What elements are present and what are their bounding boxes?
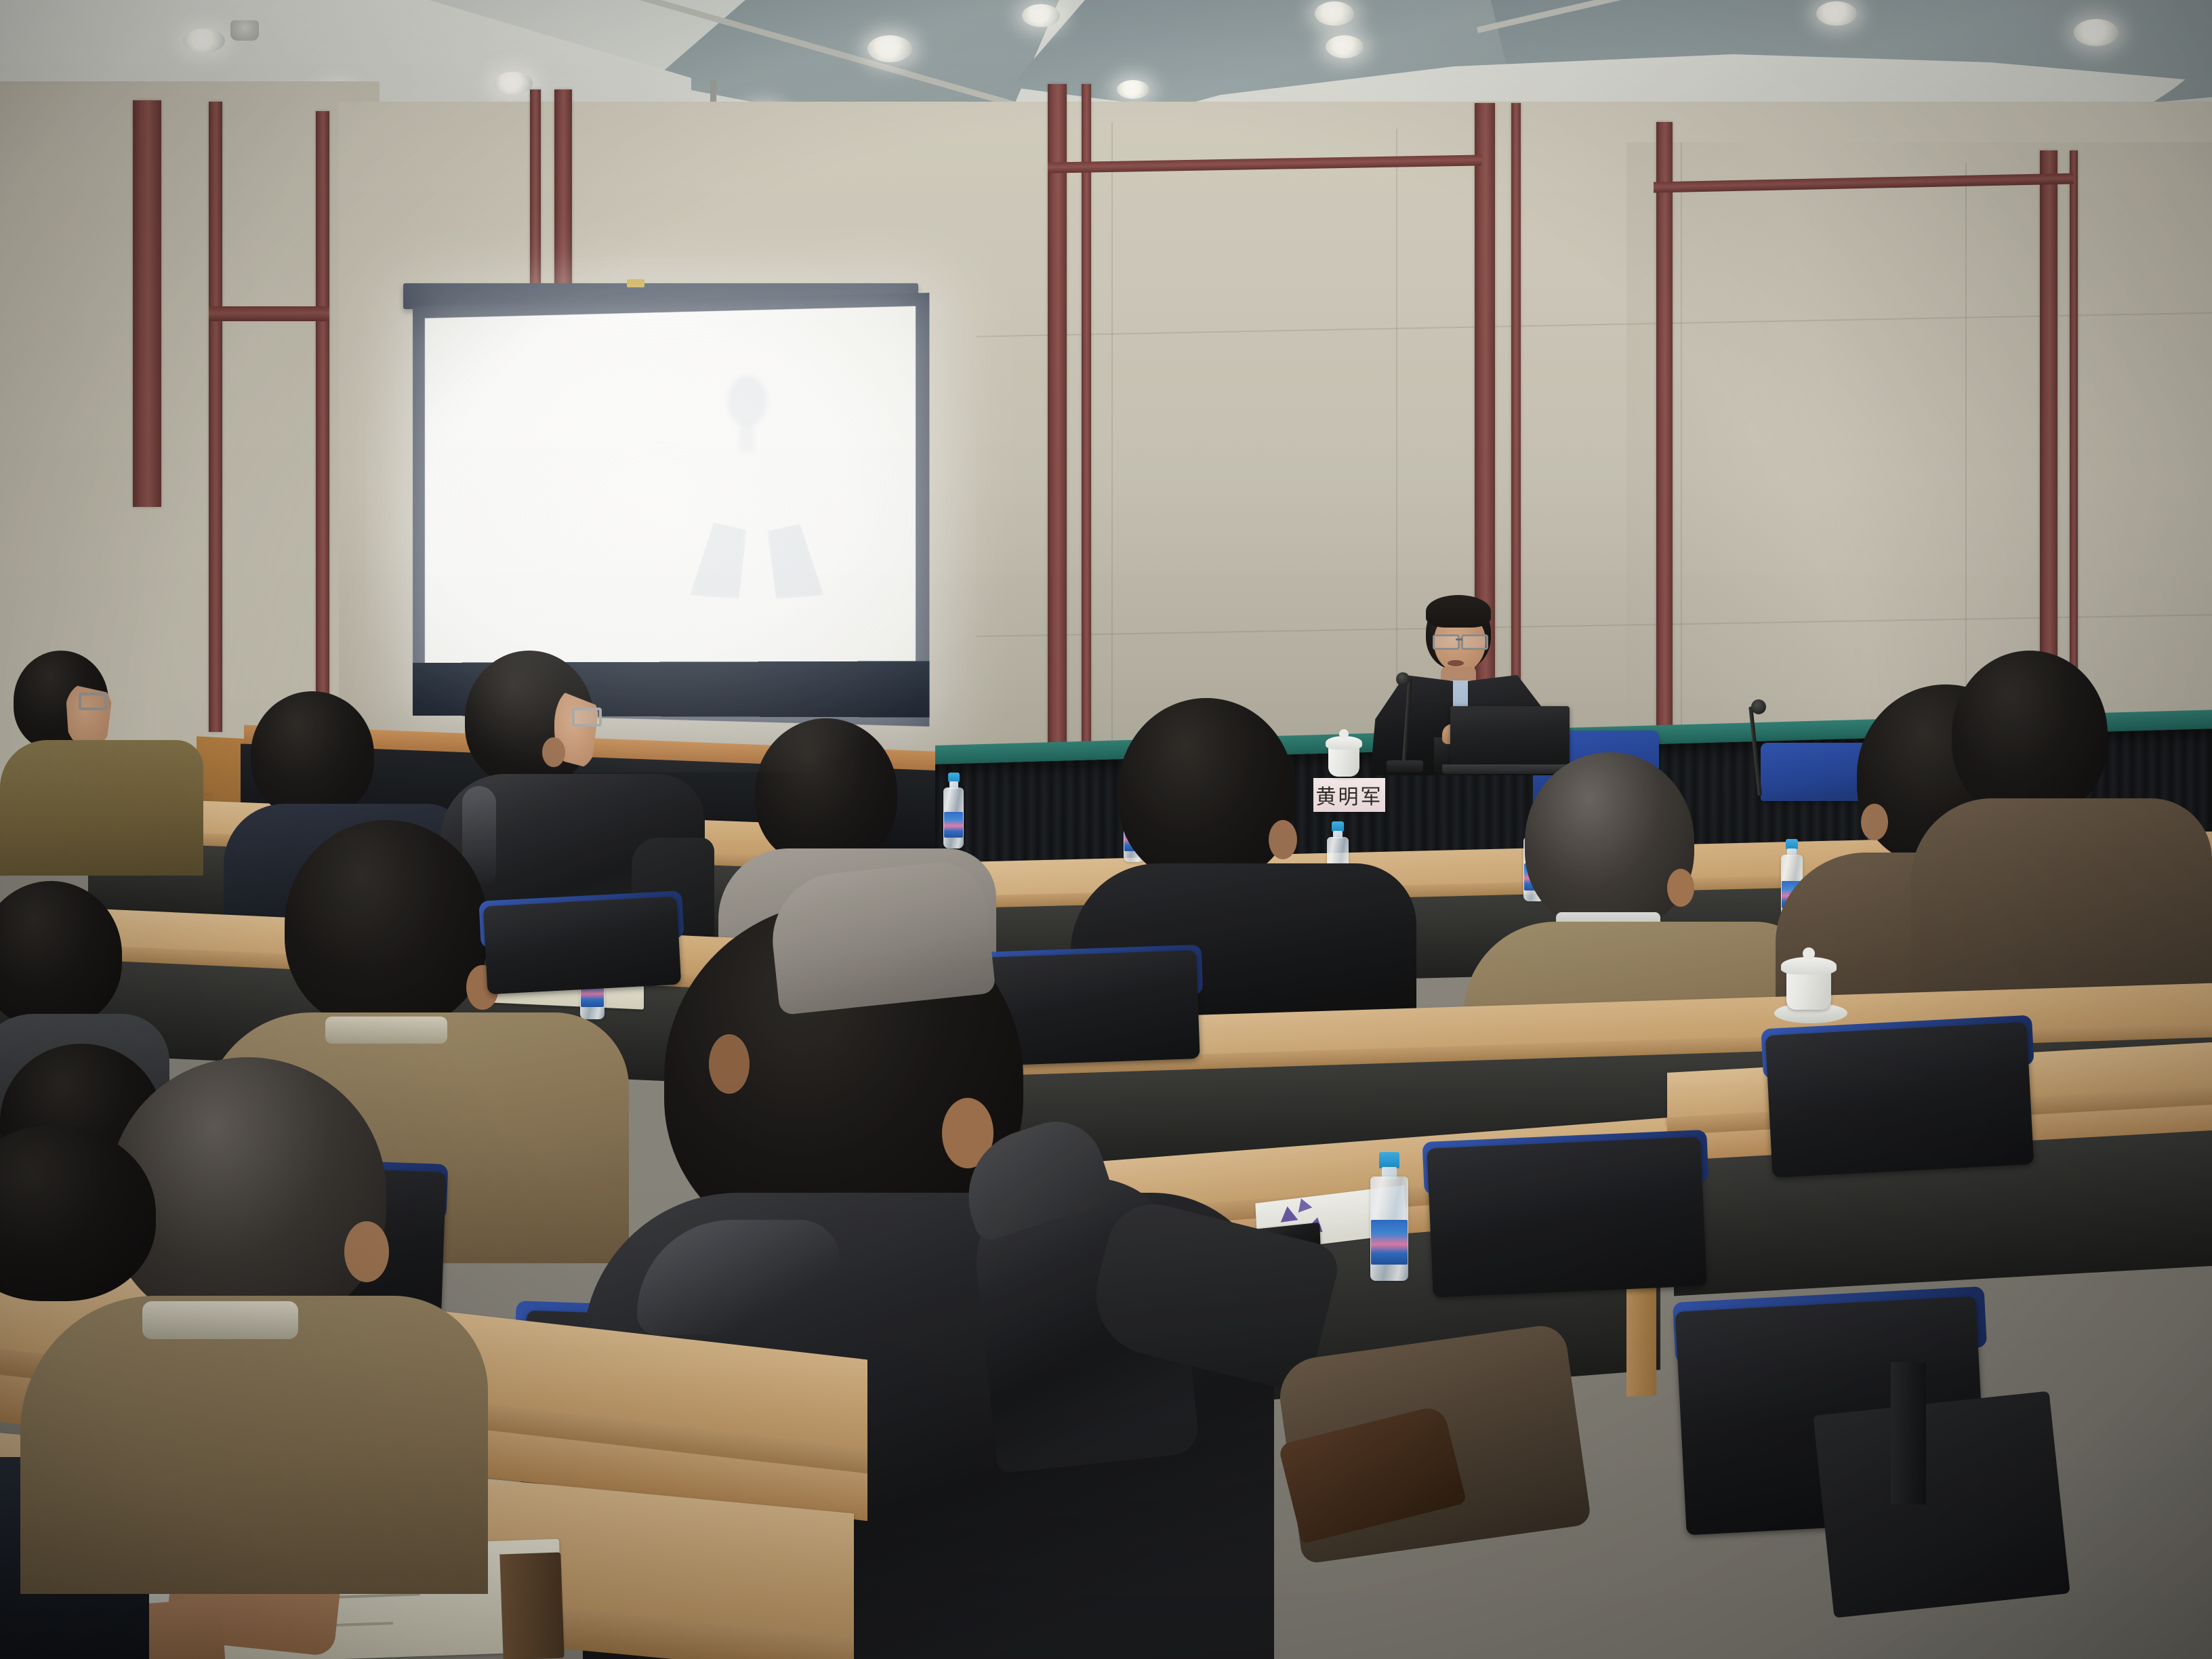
projected-ghost-neck [739,422,754,452]
attendee-head [0,881,122,1027]
wall-trim-vertical [1048,84,1067,769]
bag [1813,1391,2070,1618]
attendee-head [1525,752,1694,930]
speaker-mouth [1448,660,1464,666]
downlight-8 [2074,19,2118,46]
wall-trim-vertical [209,102,222,732]
attendee-glasses-olive [0,651,224,881]
attendee-ear [1269,820,1297,859]
speaker-glasses-bridge [1456,638,1462,640]
attendee-body [20,1296,488,1594]
attendee-head [1952,651,2108,817]
wall-trim-horizontal [209,306,329,321]
smoke-detector-icon [230,20,259,41]
downlight-5 [867,35,912,62]
attendee-head [251,691,374,817]
downlight-7 [1816,1,1857,26]
speaker-microphone-head [1396,672,1410,686]
attendee-glasses-icon [572,708,602,726]
downlight-4 [1315,1,1354,26]
attendee-ear [344,1221,389,1282]
projected-ghost-head [728,375,767,425]
attendee-ear [1861,804,1888,840]
attendee-collar [325,1017,447,1044]
projected-ghost-shoulder-left [690,523,747,599]
downlight-2 [493,72,533,95]
chair-far-right[interactable] [1765,1022,2034,1178]
attendee-head [755,718,897,866]
attendee-body [0,740,203,876]
wall-trim-vertical [133,100,161,507]
speaker-glasses-icon [1461,634,1488,650]
attendee-collar [142,1301,298,1339]
attendee-ear [1667,869,1694,907]
chair-right-mid[interactable] [1427,1136,1706,1297]
wall-trim-vertical [1656,122,1673,793]
attendee-glasses-icon [79,693,107,710]
attendee-head [1118,698,1294,882]
attendee-head [285,820,488,1030]
speaker-hair [1426,595,1491,628]
wall-trim-vertical [1082,84,1091,769]
speaker-glasses-icon [1433,634,1460,650]
downlight-1 [183,28,225,53]
wall-trim-vertical [316,111,329,721]
conference-room-photo: 黄明军 [0,0,2212,1659]
notebook-spine [499,1552,564,1659]
attendee-ear [542,737,565,767]
downlight-9 [1326,35,1364,58]
attendee-ear [709,1034,750,1094]
downlight-6 [1022,4,1060,27]
projected-ghost-shoulder-right [767,524,823,600]
teacup-knob [1803,947,1815,960]
chair-post [1891,1362,1926,1504]
audience-microphone-head [1751,699,1766,714]
downlight-11 [1117,80,1149,99]
projection-screen-latch-icon [627,279,644,287]
